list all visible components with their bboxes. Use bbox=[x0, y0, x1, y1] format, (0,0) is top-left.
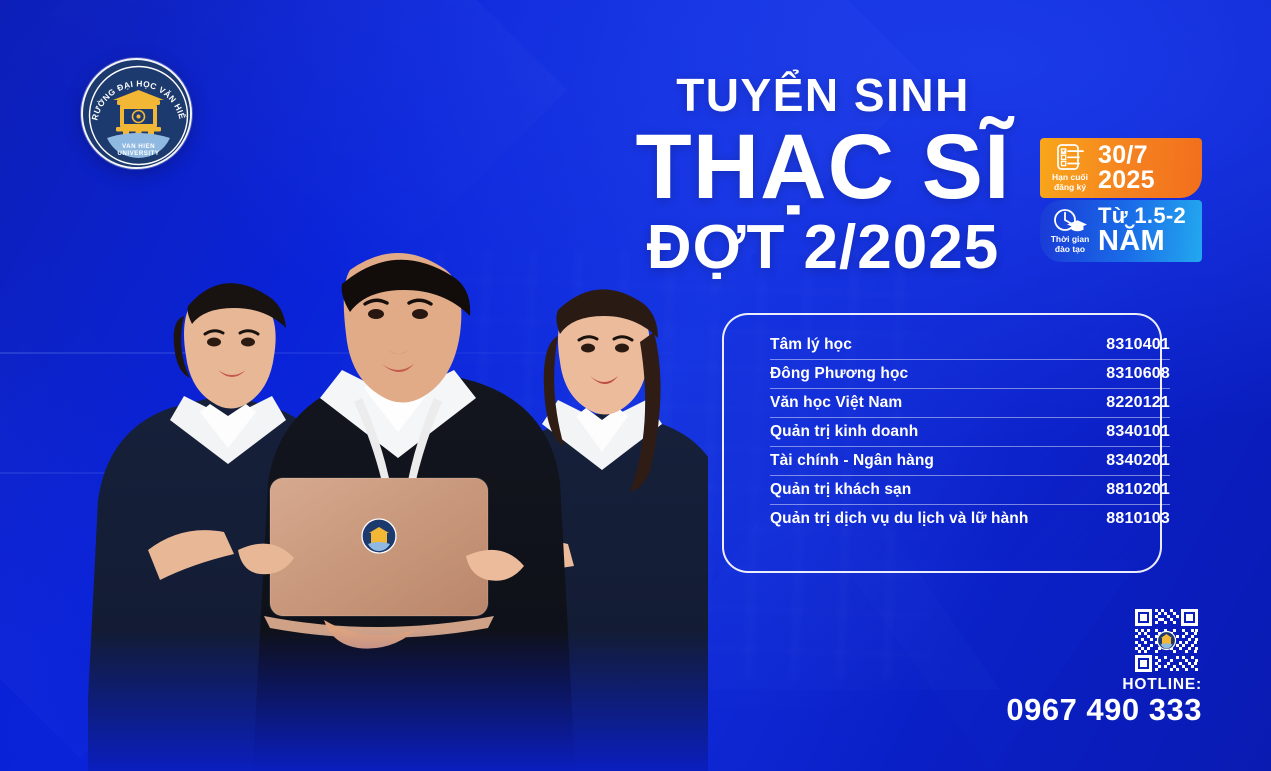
clock-graduation-cap-icon: Thời gian đào tạo bbox=[1049, 207, 1091, 254]
program-code: 8310608 bbox=[1106, 365, 1170, 383]
table-row: Văn học Việt Nam 8220121 bbox=[770, 389, 1170, 418]
badge-duration-caption-line-1: Thời gian bbox=[1051, 234, 1090, 244]
program-code: 8220121 bbox=[1106, 394, 1170, 412]
table-row: Quản trị kinh doanh 8340101 bbox=[770, 418, 1170, 447]
badge-deadline-caption: Hạn cuối đăng ký bbox=[1049, 173, 1091, 192]
qr-code[interactable] bbox=[1133, 607, 1200, 674]
table-row: Quản trị dịch vụ du lịch và lữ hành 8810… bbox=[770, 505, 1170, 533]
badge-duration-value-line-2: NĂM bbox=[1098, 227, 1194, 257]
program-list-card: Tâm lý học 8310401 Đông Phương học 83106… bbox=[722, 313, 1162, 573]
table-row: Đông Phương học 8310608 bbox=[770, 360, 1170, 389]
table-row: Quản trị khách sạn 8810201 bbox=[770, 476, 1170, 505]
program-name: Quản trị khách sạn bbox=[770, 481, 911, 499]
program-code: 8810103 bbox=[1106, 510, 1170, 528]
badge-duration-caption: Thời gian đào tạo bbox=[1049, 235, 1091, 254]
facet-triangle-2 bbox=[840, 560, 1140, 770]
program-code: 8340101 bbox=[1106, 423, 1170, 441]
badge-duration-value-line-1: Từ 1.5-2 bbox=[1098, 205, 1194, 227]
program-list: Tâm lý học 8310401 Đông Phương học 83106… bbox=[770, 331, 1170, 533]
badge-deadline-value-line-1: 30/7 bbox=[1098, 143, 1194, 168]
svg-text:UNIVERSITY: UNIVERSITY bbox=[117, 150, 160, 157]
badge-deadline: Hạn cuối đăng ký 30/7 2025 bbox=[1040, 138, 1202, 198]
headline-block: TUYỂN SINH THẠC SĨ ĐỢT 2/2025 bbox=[608, 72, 1038, 279]
badge-deadline-value-line-2: 2025 bbox=[1098, 168, 1194, 194]
badge-deadline-caption-line-2: đăng ký bbox=[1054, 182, 1086, 192]
headline-line-2: THẠC SĨ bbox=[608, 121, 1038, 213]
badge-deadline-caption-line-1: Hạn cuối bbox=[1052, 172, 1088, 182]
program-name: Quản trị dịch vụ du lịch và lữ hành bbox=[770, 510, 1028, 528]
program-name: Đông Phương học bbox=[770, 365, 908, 383]
program-name: Tâm lý học bbox=[770, 336, 852, 354]
program-code: 8340201 bbox=[1106, 452, 1170, 470]
program-code: 8810201 bbox=[1106, 481, 1170, 499]
svg-text:1997: 1997 bbox=[130, 124, 148, 133]
hotline-number[interactable]: 0967 490 333 bbox=[940, 692, 1202, 728]
badge-duration: Thời gian đào tạo Từ 1.5-2 NĂM bbox=[1040, 200, 1202, 262]
badge-duration-caption-line-2: đào tạo bbox=[1055, 244, 1085, 254]
university-logo: TRƯỜNG ĐẠI HỌC VĂN HIẾN 1997 VAN HIEN UN… bbox=[81, 58, 192, 169]
program-name: Quản trị kinh doanh bbox=[770, 423, 918, 441]
students-photo bbox=[88, 250, 708, 771]
program-name: Văn học Việt Nam bbox=[770, 394, 902, 412]
headline-line-1: TUYỂN SINH bbox=[608, 72, 1038, 119]
table-row: Tâm lý học 8310401 bbox=[770, 331, 1170, 360]
badge-duration-value: Từ 1.5-2 NĂM bbox=[1098, 205, 1194, 257]
checklist-icon: Hạn cuối đăng ký bbox=[1049, 143, 1091, 192]
table-row: Tài chính - Ngân hàng 8340201 bbox=[770, 447, 1170, 476]
admissions-poster: TRƯỜNG ĐẠI HỌC VĂN HIẾN 1997 VAN HIEN UN… bbox=[0, 0, 1271, 771]
program-code: 8310401 bbox=[1106, 336, 1170, 354]
program-name: Tài chính - Ngân hàng bbox=[770, 452, 934, 470]
svg-text:VAN HIEN: VAN HIEN bbox=[122, 143, 155, 150]
info-badges: Hạn cuối đăng ký 30/7 2025 Thời gian bbox=[1040, 138, 1202, 262]
badge-deadline-value: 30/7 2025 bbox=[1098, 143, 1194, 194]
